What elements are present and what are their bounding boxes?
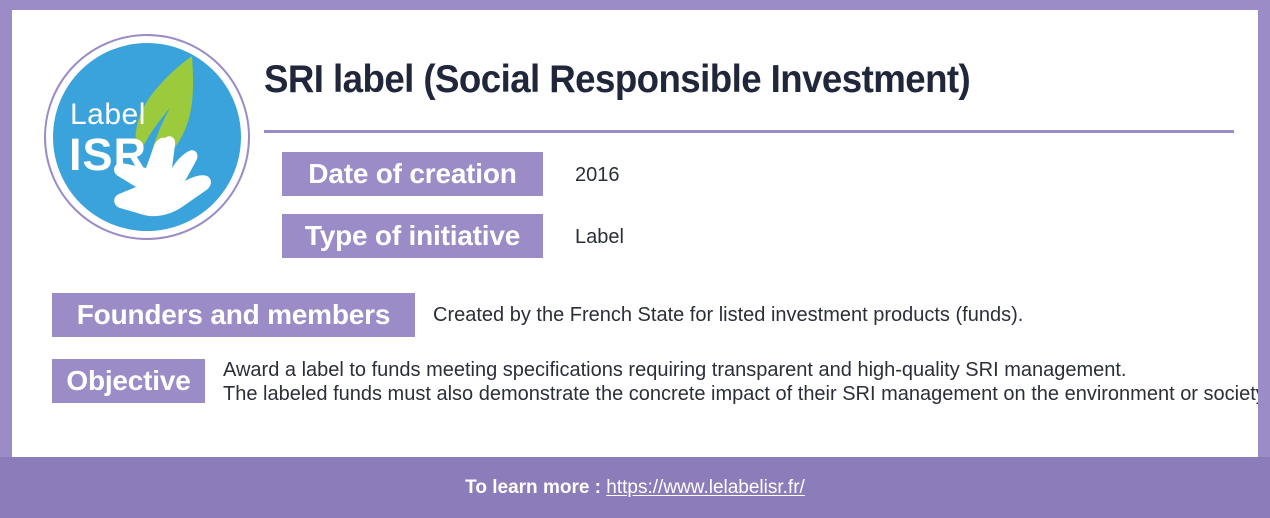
field-label-founders-and-members: Founders and members [52,293,415,337]
card-sheet: Label ISR SRI label (Social Responsible … [12,10,1258,457]
logo-text-label: Label [70,100,146,130]
objective-line-1: Award a label to funds meeting specifica… [223,358,1258,382]
title-divider [264,130,1234,133]
field-value-objective: Award a label to funds meeting specifica… [223,358,1258,407]
field-value-date-of-creation: 2016 [575,163,620,189]
field-label-type-of-initiative: Type of initiative [282,214,543,258]
footer-text: To learn more : https://www.lelabelisr.f… [465,477,805,499]
page-title: SRI label (Social Responsible Investment… [264,58,970,102]
footer-prefix: To learn more : [465,477,606,498]
footer-url-link[interactable]: https://www.lelabelisr.fr/ [606,477,805,498]
field-value-founders-and-members: Created by the French State for listed i… [433,303,1023,329]
field-label-date-of-creation: Date of creation [282,152,543,196]
label-isr-logo: Label ISR [44,34,250,240]
logo-text-isr: ISR [69,132,147,177]
footer-bar: To learn more : https://www.lelabelisr.f… [0,457,1270,518]
sri-label-card: Label ISR SRI label (Social Responsible … [0,0,1270,518]
field-value-type-of-initiative: Label [575,225,624,251]
field-label-objective: Objective [52,359,205,403]
objective-line-2: The labeled funds must also demonstrate … [223,382,1258,406]
